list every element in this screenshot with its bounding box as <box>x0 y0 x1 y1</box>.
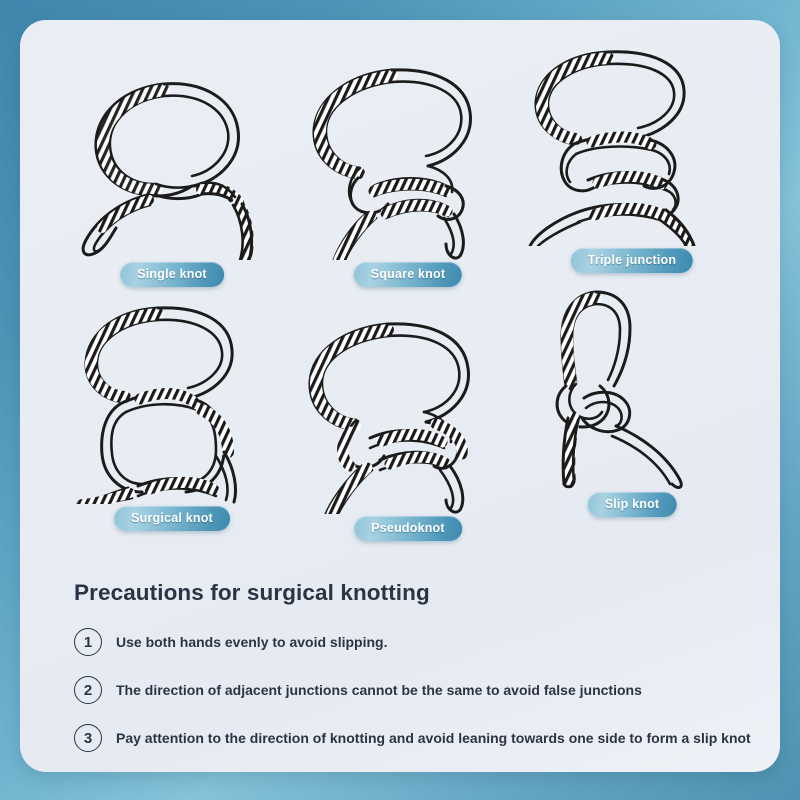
precaution-text-1: Use both hands evenly to avoid slipping. <box>116 634 387 651</box>
knot-cell-triple-junction[interactable]: Triple junction <box>512 34 752 284</box>
knot-pseudoknot-illustration <box>288 302 528 514</box>
precautions-heading: Precautions for surgical knotting <box>74 580 774 606</box>
precaution-number-1: 1 <box>74 628 102 656</box>
knot-label-surgical[interactable]: Surgical knot <box>114 506 230 531</box>
precaution-item-2: 2 The direction of adjacent junctions ca… <box>74 676 774 704</box>
knot-slip-illustration <box>512 278 752 490</box>
knot-label-pseudoknot[interactable]: Pseudoknot <box>354 516 462 541</box>
precaution-item-3: 3 Pay attention to the direction of knot… <box>74 724 774 752</box>
content-card: Single knot <box>20 20 780 772</box>
knot-cell-slip[interactable]: Slip knot <box>512 278 752 528</box>
knot-label-square[interactable]: Square knot <box>354 262 462 287</box>
knot-cell-single[interactable]: Single knot <box>52 48 292 298</box>
precaution-item-1: 1 Use both hands evenly to avoid slippin… <box>74 628 774 656</box>
knot-cell-surgical[interactable]: Surgical knot <box>52 292 292 542</box>
precautions-section: Precautions for surgical knotting 1 Use … <box>74 580 774 772</box>
knot-label-single[interactable]: Single knot <box>120 262 224 287</box>
precaution-number-3: 3 <box>74 724 102 752</box>
knot-cell-square[interactable]: Square knot <box>288 48 528 298</box>
knot-illustration-grid: Single knot <box>20 20 780 550</box>
knot-square-illustration <box>288 48 528 260</box>
precaution-text-3: Pay attention to the direction of knotti… <box>116 730 751 747</box>
precaution-number-2: 2 <box>74 676 102 704</box>
knot-single-illustration <box>52 48 292 260</box>
knot-label-slip[interactable]: Slip knot <box>588 492 677 517</box>
knot-surgical-illustration <box>52 292 292 504</box>
poster-page: Single knot <box>0 0 800 800</box>
knot-triple-junction-illustration <box>512 34 752 246</box>
knot-cell-pseudoknot[interactable]: Pseudoknot <box>288 302 528 552</box>
knot-label-triple-junction[interactable]: Triple junction <box>571 248 693 273</box>
precaution-text-2: The direction of adjacent junctions cann… <box>116 682 642 699</box>
